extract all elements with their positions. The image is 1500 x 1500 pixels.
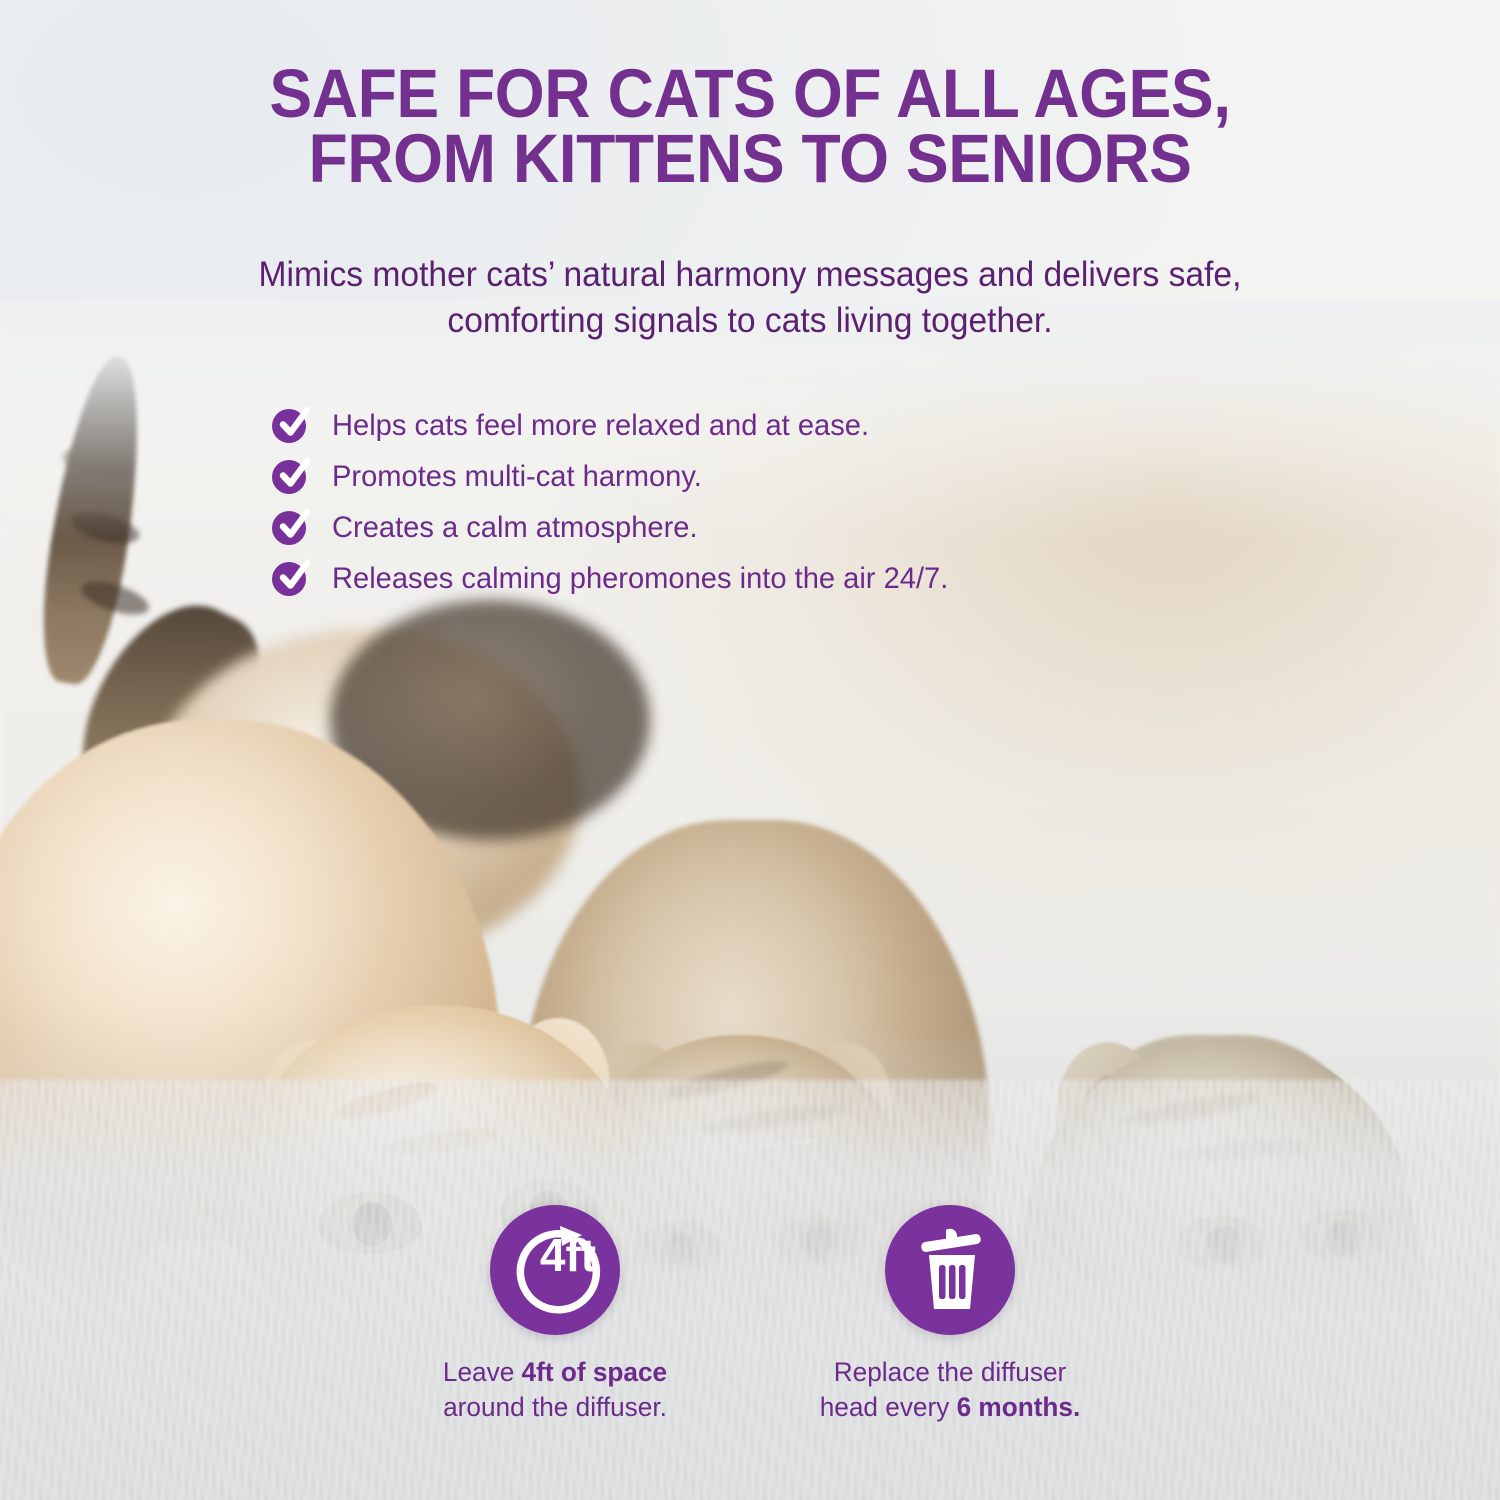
list-item-label: Releases calming pheromones into the air…	[332, 562, 948, 596]
list-item-label: Helps cats feel more relaxed and at ease…	[332, 409, 869, 443]
product-feature-image: SAFE FOR CATS OF ALL AGES, FROM KITTENS …	[0, 0, 1500, 1500]
callout-replacement: Replace the diffuser head every 6 months…	[740, 1205, 1160, 1424]
list-item: Helps cats feel more relaxed and at ease…	[272, 400, 967, 451]
caption-line2-pre: around the diffuser.	[443, 1392, 667, 1422]
subheading: Mimics mother cats’ natural harmony mess…	[145, 252, 1355, 343]
caption-line1-bold: 4ft of space	[522, 1357, 668, 1387]
callout-caption: Leave 4ft of space around the diffuser.	[351, 1355, 758, 1424]
check-circle-icon	[272, 409, 306, 443]
subheading-line-2: comforting signals to cats living togeth…	[145, 298, 1355, 344]
subheading-line-1: Mimics mother cats’ natural harmony mess…	[259, 255, 1242, 294]
caption-line1-pre: Replace the diffuser	[834, 1357, 1066, 1387]
circular-arrow-distance-icon: 4ft	[490, 1205, 620, 1335]
list-item-label: Promotes multi-cat harmony.	[332, 460, 702, 494]
check-circle-icon	[272, 460, 306, 494]
caption-line2-bold: 6 months.	[957, 1392, 1081, 1422]
callout-icon-label: 4ft	[540, 1229, 596, 1281]
page-title: SAFE FOR CATS OF ALL AGES, FROM KITTENS …	[53, 62, 1448, 192]
list-item: Releases calming pheromones into the air…	[272, 553, 967, 604]
check-circle-icon	[272, 511, 306, 545]
callout-spacing: 4ft Leave 4ft of space around the diffus…	[345, 1205, 765, 1424]
caption-line2-pre: head every	[820, 1392, 957, 1422]
benefits-list: Helps cats feel more relaxed and at ease…	[272, 400, 967, 604]
list-item-label: Creates a calm atmosphere.	[332, 511, 698, 545]
callout-caption: Replace the diffuser head every 6 months…	[746, 1355, 1153, 1424]
list-item: Creates a calm atmosphere.	[272, 502, 967, 553]
check-circle-icon	[272, 562, 306, 596]
trash-can-icon	[885, 1205, 1015, 1335]
list-item: Promotes multi-cat harmony.	[272, 451, 967, 502]
caption-line1-pre: Leave	[443, 1357, 522, 1387]
headline-line-2: FROM KITTENS TO SENIORS	[53, 127, 1448, 192]
